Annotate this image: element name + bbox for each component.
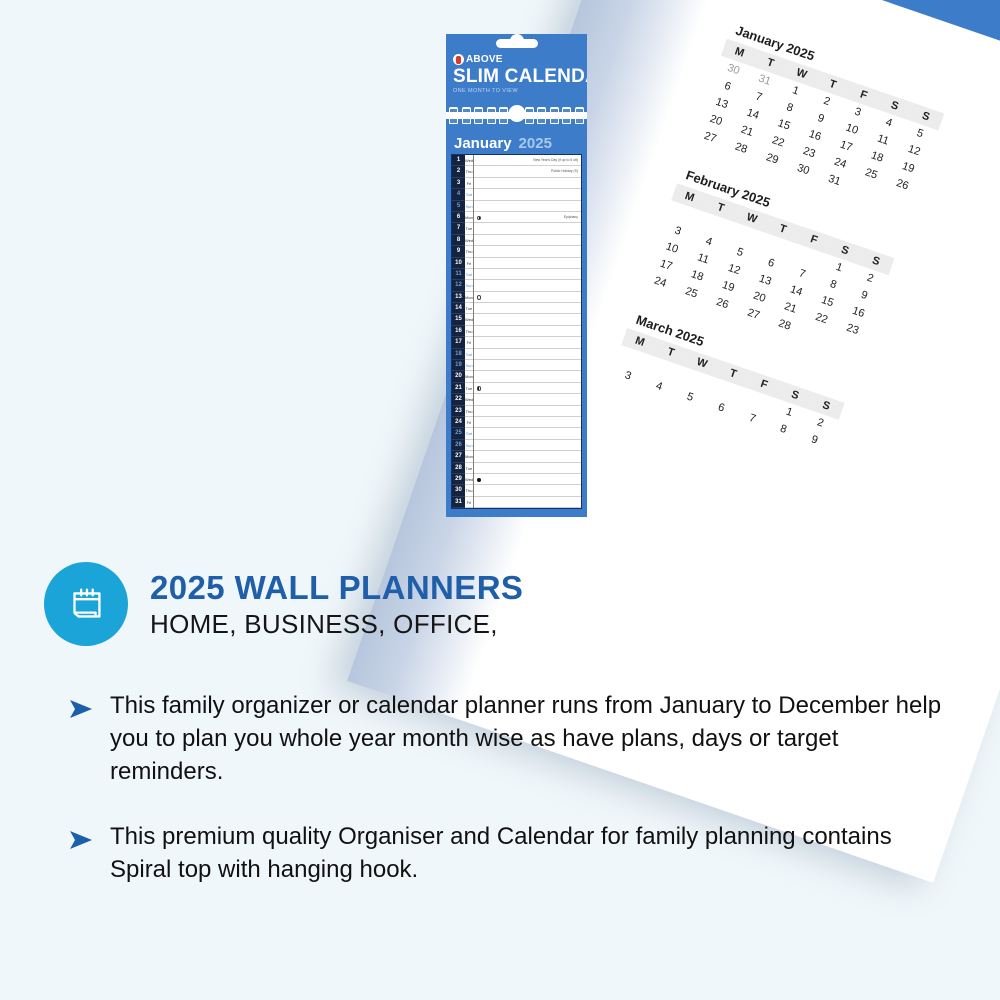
day-note-row[interactable]: [474, 349, 581, 360]
day-of-week: Thu: [465, 326, 473, 337]
product-subtitle: ONE MONTH TO VIEW: [453, 88, 580, 94]
day-of-week: Sat: [465, 428, 473, 439]
spiral-ring: [449, 107, 458, 124]
day-number: 3: [452, 178, 465, 189]
day-of-week: Wed: [465, 155, 473, 166]
day-note-row[interactable]: [474, 303, 581, 314]
hanging-hook-hole: [508, 105, 525, 122]
day-notes-column: New Year's Day (if up to 5 ott)Public Ho…: [474, 155, 581, 508]
promo-titles: 2025 WALL PLANNERS HOME, BUSINESS, OFFIC…: [150, 568, 523, 640]
day-number: 30: [452, 485, 465, 496]
day-note-row[interactable]: New Year's Day (if up to 5 ott): [474, 155, 581, 166]
bullet-arrow-icon: [68, 690, 94, 789]
day-of-week: Fri: [465, 337, 473, 348]
day-number: 12: [452, 280, 465, 291]
day-of-week: Thu: [465, 485, 473, 496]
day-note-row[interactable]: [474, 246, 581, 257]
day-number: 23: [452, 406, 465, 417]
day-of-week: Sun: [465, 201, 473, 212]
day-note-row[interactable]: [474, 497, 581, 508]
day-of-week: Sun: [465, 280, 473, 291]
day-note-text: Public Holiday (S): [551, 169, 578, 173]
day-of-week: Thu: [465, 166, 473, 177]
day-note-row[interactable]: [474, 178, 581, 189]
brand-logo: ABOVE: [453, 54, 580, 65]
promo-bullet-text: This premium quality Organiser and Calen…: [110, 821, 956, 887]
day-number: 9: [452, 246, 465, 257]
day-of-week: Tue: [465, 223, 473, 234]
day-of-week: Fri: [465, 497, 473, 508]
product-title: SLIM CALENDAR: [453, 67, 580, 86]
brand-mark-icon: [453, 54, 464, 65]
moon-phase-icon: [477, 386, 481, 390]
month-name: January: [454, 136, 512, 151]
day-number: 13: [452, 292, 465, 303]
calendar-header-card: ABOVE SLIM CALENDAR ONE MONTH TO VIEW: [446, 34, 587, 104]
promo-header: 2025 WALL PLANNERS HOME, BUSINESS, OFFIC…: [44, 562, 956, 646]
day-number-column: 1234567891011121314151617181920212223242…: [452, 155, 465, 508]
spiral-ring: [550, 107, 559, 124]
day-of-week: Mon: [465, 212, 473, 223]
day-of-week: Mon: [465, 451, 473, 462]
day-of-week: Sun: [465, 360, 473, 371]
day-note-row[interactable]: [474, 451, 581, 462]
day-note-row[interactable]: [474, 360, 581, 371]
day-note-row[interactable]: [474, 235, 581, 246]
promo-bullets: This family organizer or calendar planne…: [44, 690, 956, 886]
day-number: 24: [452, 417, 465, 428]
day-of-week: Wed: [465, 235, 473, 246]
day-of-week: Sat: [465, 269, 473, 280]
day-note-row[interactable]: [474, 383, 581, 394]
day-number: 27: [452, 451, 465, 462]
bullet-arrow-icon: [68, 821, 94, 887]
day-note-row[interactable]: [474, 485, 581, 496]
day-number: 8: [452, 235, 465, 246]
promo-title: 2025 WALL PLANNERS: [150, 570, 523, 607]
day-of-week: Thu: [465, 246, 473, 257]
day-number: 6: [452, 212, 465, 223]
promo-subtitle: HOME, BUSINESS, OFFICE,: [150, 609, 523, 640]
calendar-month-header: January 2025: [451, 136, 582, 154]
moon-phase-icon: [477, 216, 481, 220]
spiral-ring: [575, 107, 584, 124]
calendar-icon-glyph: [63, 581, 109, 627]
day-note-row[interactable]: [474, 474, 581, 485]
day-number: 14: [452, 303, 465, 314]
spiral-ring: [462, 107, 471, 124]
day-of-week: Sat: [465, 189, 473, 200]
day-note-row[interactable]: [474, 406, 581, 417]
promo-bullet: This premium quality Organiser and Calen…: [68, 821, 956, 887]
calendar-body: January 2025 123456789101112131415161718…: [446, 130, 587, 517]
day-number: 15: [452, 314, 465, 325]
promo-bullet-text: This family organizer or calendar planne…: [110, 690, 956, 789]
day-of-week: Tue: [465, 463, 473, 474]
promo-section: 2025 WALL PLANNERS HOME, BUSINESS, OFFIC…: [0, 562, 1000, 918]
day-of-week: Thu: [465, 406, 473, 417]
day-number: 7: [452, 223, 465, 234]
day-note-row[interactable]: Public Holiday (S): [474, 166, 581, 177]
day-note-row[interactable]: [474, 223, 581, 234]
spiral-ring: [474, 107, 483, 124]
day-note-row[interactable]: [474, 258, 581, 269]
day-number: 18: [452, 349, 465, 360]
day-note-row[interactable]: [474, 371, 581, 382]
day-of-week: Wed: [465, 474, 473, 485]
day-number: 16: [452, 326, 465, 337]
day-note-text: Epiphany: [564, 215, 578, 219]
day-of-week: Mon: [465, 292, 473, 303]
day-number: 29: [452, 474, 465, 485]
day-note-row[interactable]: [474, 463, 581, 474]
day-note-row[interactable]: [474, 269, 581, 280]
day-note-row[interactable]: [474, 417, 581, 428]
day-number: 11: [452, 269, 465, 280]
slim-calendar-product: ABOVE SLIM CALENDAR ONE MONTH TO VIEW Ja…: [446, 34, 587, 517]
moon-phase-icon: [477, 295, 481, 299]
calendar-day-sheet: 1234567891011121314151617181920212223242…: [451, 154, 582, 509]
day-note-row[interactable]: Epiphany: [474, 212, 581, 223]
spiral-ring: [537, 107, 546, 124]
day-number: 17: [452, 337, 465, 348]
day-of-week-column: WedThuFriSatSunMonTueWedThuFriSatSunMonT…: [465, 155, 474, 508]
spiral-binding: [446, 104, 587, 130]
day-of-week: Tue: [465, 383, 473, 394]
euro-slot-hanging-hole: [496, 39, 538, 48]
day-number: 5: [452, 201, 465, 212]
day-number: 25: [452, 428, 465, 439]
spiral-ring: [487, 107, 496, 124]
day-of-week: Sat: [465, 349, 473, 360]
day-note-row[interactable]: [474, 337, 581, 348]
day-number: 20: [452, 371, 465, 382]
day-of-week: Tue: [465, 303, 473, 314]
day-number: 21: [452, 383, 465, 394]
day-note-row[interactable]: [474, 428, 581, 439]
promo-bullet: This family organizer or calendar planne…: [68, 690, 956, 789]
day-of-week: Fri: [465, 178, 473, 189]
day-number: 22: [452, 394, 465, 405]
day-of-week: Wed: [465, 314, 473, 325]
day-note-row[interactable]: [474, 326, 581, 337]
day-of-week: Mon: [465, 371, 473, 382]
day-of-week: Fri: [465, 258, 473, 269]
spiral-ring: [499, 107, 508, 124]
day-note-row[interactable]: [474, 201, 581, 212]
day-of-week: Sun: [465, 440, 473, 451]
day-number: 4: [452, 189, 465, 200]
brand-name: ABOVE: [466, 54, 503, 65]
day-note-row[interactable]: [474, 292, 581, 303]
day-note-row[interactable]: [474, 440, 581, 451]
day-of-week: Fri: [465, 417, 473, 428]
spiral-ring: [525, 107, 534, 124]
day-number: 28: [452, 463, 465, 474]
day-note-row[interactable]: [474, 314, 581, 325]
day-note-text: New Year's Day (if up to 5 ott): [533, 158, 578, 162]
day-number: 31: [452, 497, 465, 508]
day-note-row[interactable]: [474, 394, 581, 405]
day-number: 10: [452, 258, 465, 269]
day-note-row[interactable]: [474, 189, 581, 200]
month-year: 2025: [519, 136, 552, 151]
day-note-row[interactable]: [474, 280, 581, 291]
calendar-icon: [44, 562, 128, 646]
day-number: 19: [452, 360, 465, 371]
spiral-ring: [562, 107, 571, 124]
day-number: 2: [452, 166, 465, 177]
day-number: 26: [452, 440, 465, 451]
moon-phase-icon: [477, 478, 481, 482]
warning-line-1: WARNING: SUFFOCATION HAZARD: [655, 0, 1000, 61]
day-number: 1: [452, 155, 465, 166]
day-of-week: Wed: [465, 394, 473, 405]
